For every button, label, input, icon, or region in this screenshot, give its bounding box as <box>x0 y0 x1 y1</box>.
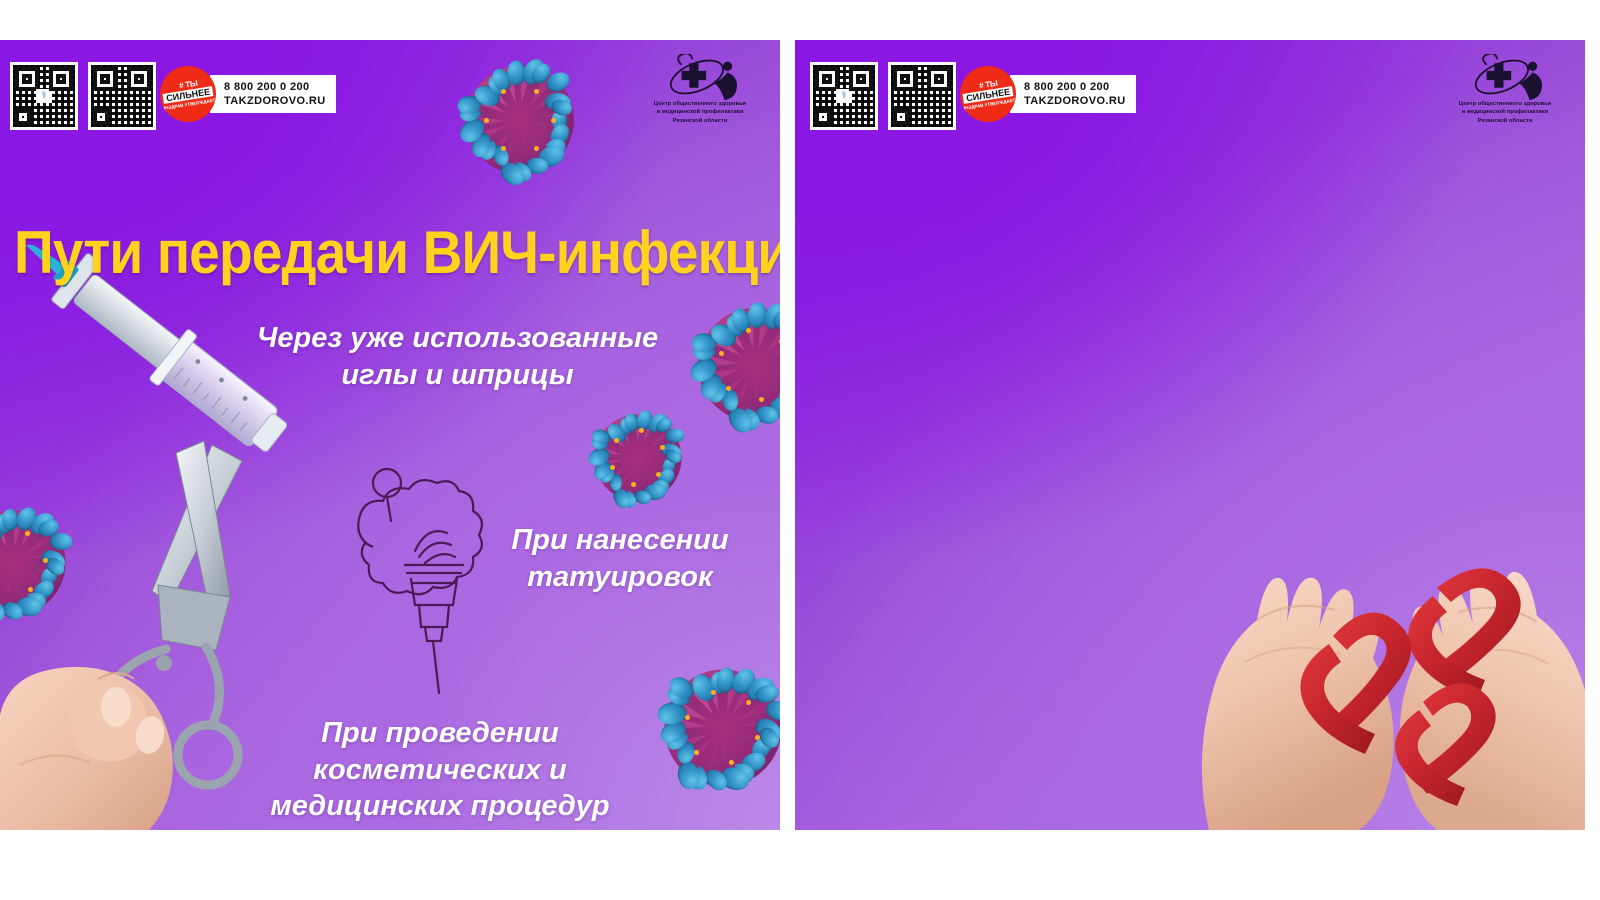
campaign-url[interactable]: TAKZDOROVO.RU <box>224 94 326 108</box>
health-center-emblem <box>1459 54 1551 100</box>
health-center-emblem <box>654 54 746 100</box>
organization-logo-block: Центр общественного здоровья и медицинск… <box>1435 54 1575 125</box>
poster-background-gradient <box>795 40 1585 830</box>
qr-code-left[interactable]: ⚕ <box>810 62 878 130</box>
poster2-header: ⚕ # ТЫ СИЛЬНЕЕ МИНЗДРАВ УТВЕРЖДАЕТ! 8 80… <box>795 40 1585 140</box>
campaign-url[interactable]: TAKZDOROVO.RU <box>1024 94 1126 108</box>
org-line-1: Центр общественного здоровья <box>630 100 770 108</box>
org-line-2: и медицинской профилактики <box>1435 108 1575 116</box>
ty-silnee-logo: # ТЫ СИЛЬНЕЕ МИНЗДРАВ УТВЕРЖДАЕТ! <box>960 66 1016 122</box>
hotline-phone[interactable]: 8 800 200 0 200 <box>1024 80 1110 94</box>
qr-code-left[interactable]: ⚕ <box>10 62 78 130</box>
poster-symptoms: ⚕ # ТЫ СИЛЬНЕЕ МИНЗДРАВ УТВЕРЖДАЕТ! 8 80… <box>795 40 1585 830</box>
screenshot-canvas: ⚕ # ТЫ СИЛЬНЕЕ МИНЗДРАВ УТВЕРЖДАЕТ! 8 80… <box>0 0 1600 900</box>
organization-logo-block: Центр общественного здоровья и медицинск… <box>630 54 770 125</box>
poster1-headline: Пути передачи ВИЧ-инфекции: <box>14 218 780 287</box>
poster-transmission-routes: ⚕ # ТЫ СИЛЬНЕЕ МИНЗДРАВ УТВЕРЖДАЕТ! 8 80… <box>0 40 780 830</box>
org-line-3: Рязанской области <box>1435 117 1575 125</box>
org-line-3: Рязанской области <box>630 117 770 125</box>
qr-code-right[interactable] <box>88 62 156 130</box>
campaign-badge[interactable]: # ТЫ СИЛЬНЕЕ МИНЗДРАВ УТВЕРЖДАЕТ! 8 800 … <box>160 66 336 122</box>
ty-silnee-logo: # ТЫ СИЛЬНЕЕ МИНЗДРАВ УТВЕРЖДАЕТ! <box>160 66 216 122</box>
poster1-header: ⚕ # ТЫ СИЛЬНЕЕ МИНЗДРАВ УТВЕРЖДАЕТ! 8 80… <box>0 40 780 140</box>
org-line-1: Центр общественного здоровья <box>1435 100 1575 108</box>
transmission-route-tattoo: При нанесении татуировок <box>470 522 770 595</box>
poster-background-gradient <box>0 40 780 830</box>
hotline-phone[interactable]: 8 800 200 0 200 <box>224 80 310 94</box>
contact-plate: 8 800 200 0 200 TAKZDOROVO.RU <box>1010 75 1136 114</box>
qr-code-right[interactable] <box>888 62 956 130</box>
contact-plate: 8 800 200 0 200 TAKZDOROVO.RU <box>210 75 336 114</box>
org-line-2: и медицинской профилактики <box>630 108 770 116</box>
campaign-badge[interactable]: # ТЫ СИЛЬНЕЕ МИНЗДРАВ УТВЕРЖДАЕТ! 8 800 … <box>960 66 1136 122</box>
transmission-route-procedures: При проведении косметических и медицинск… <box>235 715 645 825</box>
transmission-route-needles: Через уже использованные иглы и шприцы <box>255 320 660 393</box>
